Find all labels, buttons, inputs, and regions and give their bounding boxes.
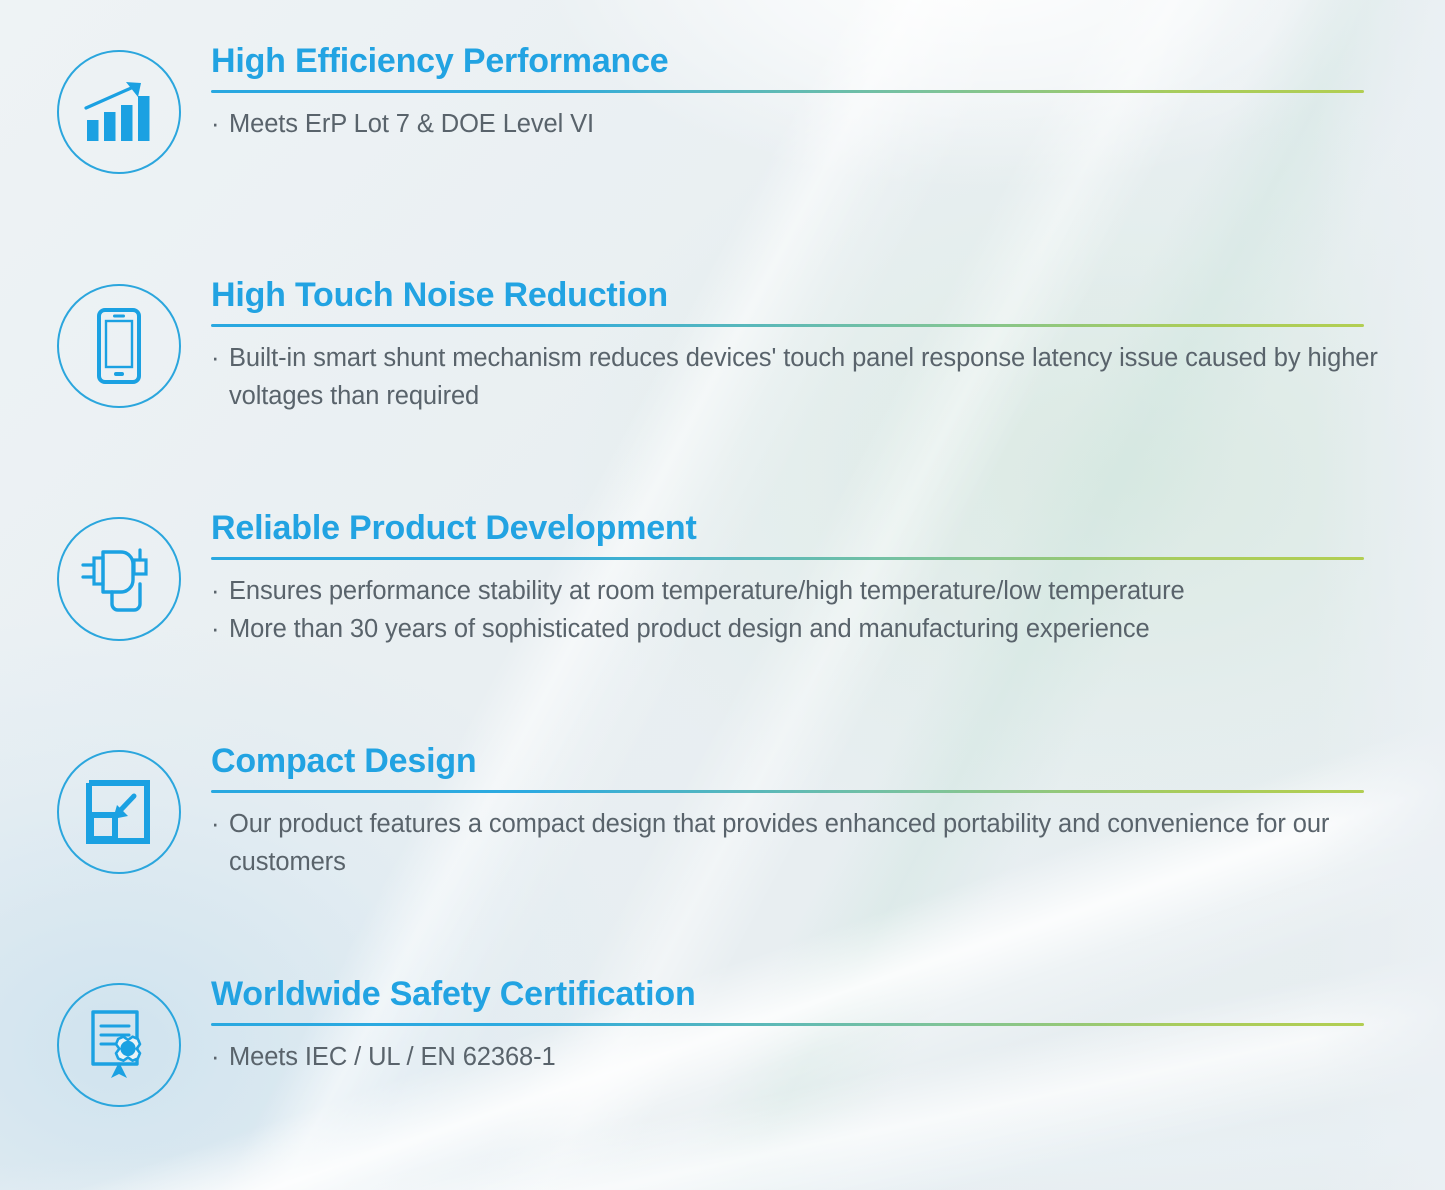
bullet-text: More than 30 years of sophisticated prod…	[229, 615, 1150, 643]
feature-bullet: ·Built-in smart shunt mechanism reduces …	[211, 340, 1445, 415]
feature-title: High Efficiency Performance	[211, 42, 1445, 80]
bullet-text: Built-in smart shunt mechanism reduces d…	[229, 344, 1378, 410]
feature-title: High Touch Noise Reduction	[211, 276, 1445, 314]
feature-divider	[211, 90, 1364, 93]
feature-divider	[211, 1023, 1364, 1026]
feature-bullet-list: ·Meets ErP Lot 7 & DOE Level VI	[211, 106, 1445, 144]
feature-icon-wrapper	[50, 975, 188, 1107]
feature-icon-wrapper	[50, 742, 188, 874]
feature-icon-wrapper	[50, 509, 188, 641]
feature-bullet: ·More than 30 years of sophisticated pro…	[211, 611, 1445, 649]
bullet-marker: ·	[211, 573, 219, 611]
feature-title: Compact Design	[211, 742, 1445, 780]
power-adapter-icon	[57, 517, 181, 641]
feature-item-compact-design: Compact Design ·Our product features a c…	[0, 742, 1445, 882]
feature-bullet-list: ·Built-in smart shunt mechanism reduces …	[211, 340, 1445, 415]
bar-chart-growth-icon	[57, 50, 181, 174]
smartphone-icon	[57, 284, 181, 408]
feature-divider	[211, 790, 1364, 793]
feature-divider	[211, 324, 1364, 327]
feature-item-high-efficiency-performance: High Efficiency Performance ·Meets ErP L…	[0, 42, 1445, 174]
feature-text-block: Reliable Product Development ·Ensures pe…	[188, 509, 1445, 649]
feature-bullet: ·Meets IEC / UL / EN 62368-1	[211, 1039, 1445, 1077]
feature-item-high-touch-noise-reduction: High Touch Noise Reduction ·Built-in sma…	[0, 276, 1445, 416]
compact-resize-icon	[57, 750, 181, 874]
bullet-text: Our product features a compact design th…	[229, 810, 1329, 876]
feature-text-block: Compact Design ·Our product features a c…	[188, 742, 1445, 882]
feature-text-block: High Touch Noise Reduction ·Built-in sma…	[188, 276, 1445, 416]
feature-bullet: ·Meets ErP Lot 7 & DOE Level VI	[211, 106, 1445, 144]
bullet-text: Meets ErP Lot 7 & DOE Level VI	[229, 110, 594, 138]
feature-icon-wrapper	[50, 276, 188, 408]
feature-title: Reliable Product Development	[211, 509, 1445, 547]
feature-bullet: ·Our product features a compact design t…	[211, 806, 1445, 881]
feature-bullet-list: ·Meets IEC / UL / EN 62368-1	[211, 1039, 1445, 1077]
bullet-marker: ·	[211, 106, 219, 144]
feature-text-block: Worldwide Safety Certification ·Meets IE…	[188, 975, 1445, 1077]
feature-bullet-list: ·Our product features a compact design t…	[211, 806, 1445, 881]
bullet-text: Meets IEC / UL / EN 62368-1	[229, 1043, 556, 1071]
feature-bullet: ·Ensures performance stability at room t…	[211, 573, 1445, 611]
bullet-marker: ·	[211, 340, 219, 378]
bullet-marker: ·	[211, 806, 219, 844]
feature-icon-wrapper	[50, 42, 188, 174]
feature-item-reliable-product-development: Reliable Product Development ·Ensures pe…	[0, 509, 1445, 649]
feature-title: Worldwide Safety Certification	[211, 975, 1445, 1013]
certificate-seal-icon	[57, 983, 181, 1107]
feature-highlights-page: High Efficiency Performance ·Meets ErP L…	[0, 0, 1445, 1190]
feature-divider	[211, 557, 1364, 560]
bullet-marker: ·	[211, 1039, 219, 1077]
feature-item-worldwide-safety-certification: Worldwide Safety Certification ·Meets IE…	[0, 975, 1445, 1107]
feature-text-block: High Efficiency Performance ·Meets ErP L…	[188, 42, 1445, 144]
bullet-marker: ·	[211, 611, 219, 649]
bullet-text: Ensures performance stability at room te…	[229, 577, 1185, 605]
feature-bullet-list: ·Ensures performance stability at room t…	[211, 573, 1445, 648]
